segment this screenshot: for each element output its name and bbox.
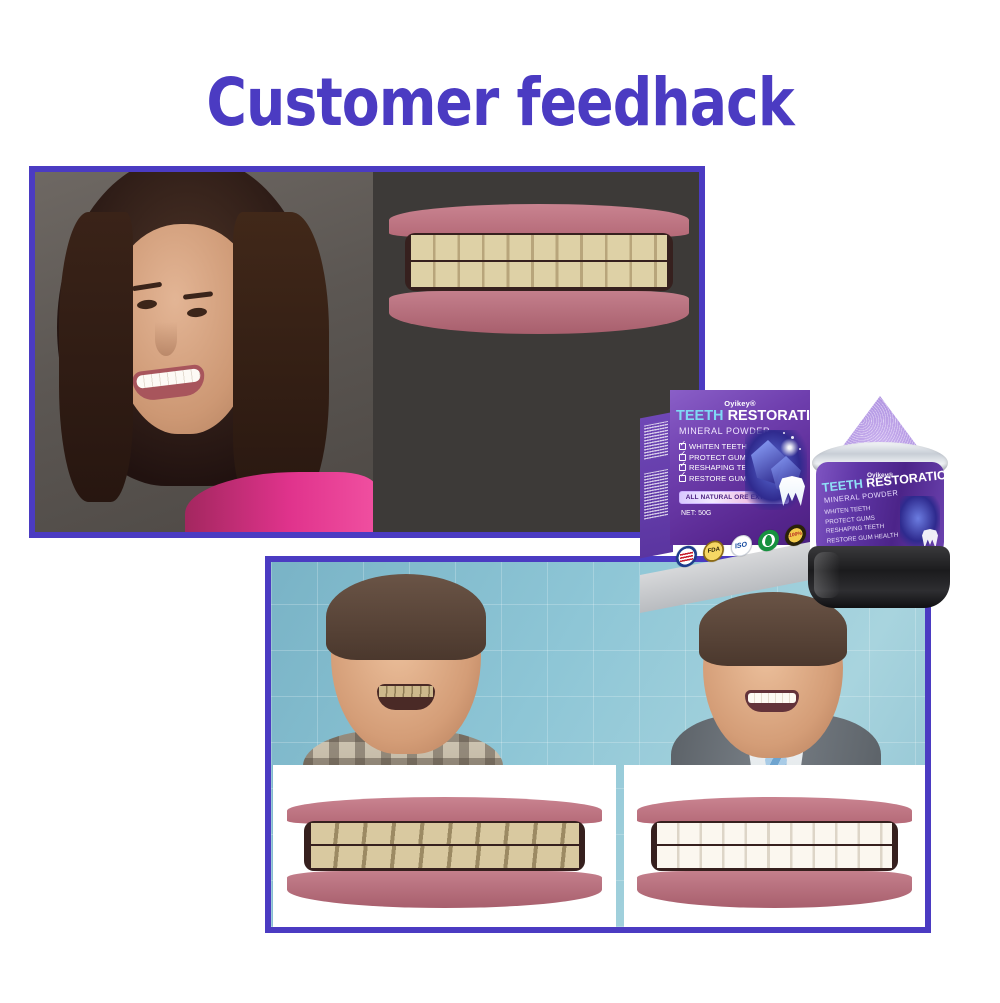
lower-teeth-arch xyxy=(311,846,579,868)
lower-teeth-arch xyxy=(657,846,891,868)
net-weight-label: NET: 50G xyxy=(681,510,711,517)
side-text-block-1 xyxy=(644,421,668,460)
product-group: Oyikey® TEETH RESTORATION MINERAL POWDER… xyxy=(640,390,1000,625)
fda-badge: FDA xyxy=(703,538,724,563)
woman-portrait-photo xyxy=(35,172,373,532)
upper-teeth-arch xyxy=(411,235,667,260)
upper-teeth-arch xyxy=(311,823,579,845)
crystal-graphic xyxy=(745,430,807,510)
iso-badge: ISO xyxy=(731,533,752,558)
upper-lip xyxy=(637,797,912,825)
jar-benefit-list: WHITEN TEETH PROTECT GUMS RESHAPING TEET… xyxy=(824,502,899,547)
product-name-part2: RESTORATION xyxy=(728,408,810,424)
testimonial-panel-woman xyxy=(29,166,705,538)
sparkle-icon xyxy=(791,436,794,439)
man-mouth-after xyxy=(745,690,799,712)
hair-strand-right xyxy=(233,212,329,512)
man-before-teeth-closeup xyxy=(277,769,612,923)
sparkle-icon xyxy=(799,448,801,450)
woman-before-teeth-closeup xyxy=(379,172,699,352)
checkmark-icon xyxy=(679,475,686,482)
carton-side-panel xyxy=(640,412,673,558)
product-jar: Oyikey® TEETH RESTORATION MINERAL POWDER… xyxy=(808,396,950,606)
product-carton: Oyikey® TEETH RESTORATION MINERAL POWDER… xyxy=(640,390,810,570)
benefit-label: WHITEN TEETH xyxy=(689,442,747,451)
organic-leaf-badge xyxy=(758,528,779,553)
upper-lip xyxy=(287,797,602,825)
side-text-block-2 xyxy=(644,469,668,520)
lower-lip xyxy=(389,291,690,334)
guarantee-badge: 100% xyxy=(785,522,806,547)
usa-flag-badge xyxy=(676,543,697,568)
jar-black-base xyxy=(808,546,950,608)
brand-name: Oyikey® xyxy=(670,399,810,408)
man-after-teeth-inset xyxy=(624,765,925,927)
tooth-icon xyxy=(779,476,805,506)
page-title: Customer feedhack xyxy=(35,64,965,141)
product-name: TEETH RESTORATION xyxy=(676,409,808,424)
man-mouth-before xyxy=(377,684,435,710)
man-hair-before xyxy=(326,574,486,660)
carton-front-panel: Oyikey® TEETH RESTORATION MINERAL POWDER… xyxy=(670,390,810,545)
lower-teeth-arch xyxy=(411,262,667,287)
upper-lip xyxy=(389,204,690,236)
sparkle-icon xyxy=(783,432,785,434)
upper-teeth-arch xyxy=(657,823,891,845)
fda-badge-label: FDA xyxy=(708,546,720,554)
guarantee-badge-label: 100% xyxy=(789,531,802,539)
iso-badge-label: ISO xyxy=(735,541,747,550)
man-before-teeth-inset xyxy=(273,765,616,927)
hair-strand-left xyxy=(59,212,133,502)
lower-lip xyxy=(287,871,602,908)
teeth-row xyxy=(136,368,201,389)
benefit-label: PROTECT GUMS xyxy=(689,453,751,462)
product-name-part1: TEETH xyxy=(676,408,724,424)
damaged-teeth-row xyxy=(379,686,433,697)
jar-product-name-part2: RESTORATION xyxy=(865,467,944,490)
lower-lip xyxy=(637,871,912,908)
restored-teeth-row xyxy=(748,693,796,703)
man-after-teeth-closeup xyxy=(628,769,921,923)
nose-shape xyxy=(155,322,177,356)
